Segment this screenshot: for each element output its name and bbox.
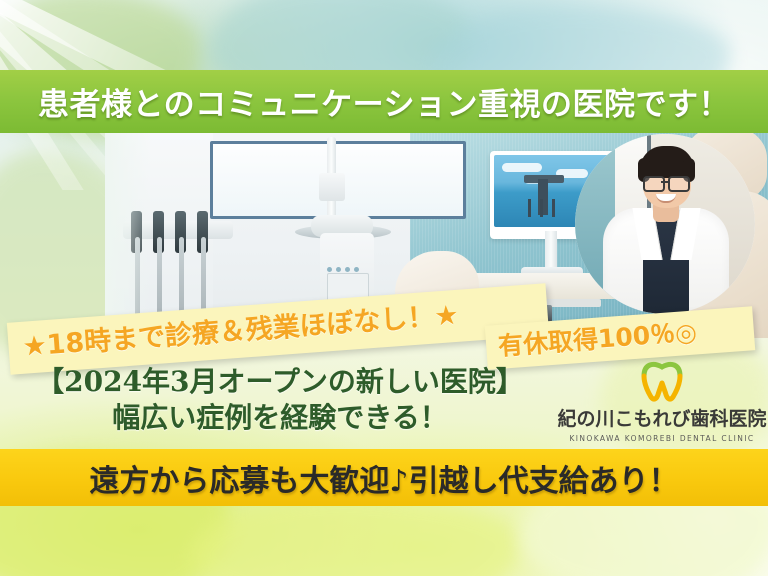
- footer-text: 遠方から応募も大歓迎♪引越し代支給あり！: [89, 456, 678, 500]
- footer-band: 遠方から応募も大歓迎♪引越し代支給あり！: [0, 449, 768, 506]
- headline-band: 患者様とのコミュニケーション重視の医院です！: [0, 70, 768, 133]
- middle-copy: 【2024年3月オープンの新しい医院】 幅広い症例を経験できる！: [0, 364, 560, 436]
- clinic-logo: 紀の川こもれび歯科医院 KINOKAWA KOMOREBI DENTAL CLI…: [556, 358, 768, 443]
- tooth-icon: [638, 358, 686, 402]
- recruitment-banner: 患者様とのコミュニケーション重視の医院です！ ★18時まで診療＆残業ほぼなし！★…: [0, 0, 768, 576]
- clinic-name-romaji: KINOKAWA KOMOREBI DENTAL CLINIC: [556, 434, 768, 443]
- sticky-note-paid-leave-text: 有休取得100％◎: [485, 317, 698, 361]
- clinic-name: 紀の川こもれび歯科医院: [556, 404, 768, 431]
- headline-text: 患者様とのコミュニケーション重視の医院です！: [38, 79, 730, 124]
- middle-copy-line2: 幅広い症例を経験できる！: [0, 400, 560, 436]
- middle-copy-line1: 【2024年3月オープンの新しい医院】: [0, 364, 560, 400]
- dentist-portrait-photo: [575, 134, 755, 314]
